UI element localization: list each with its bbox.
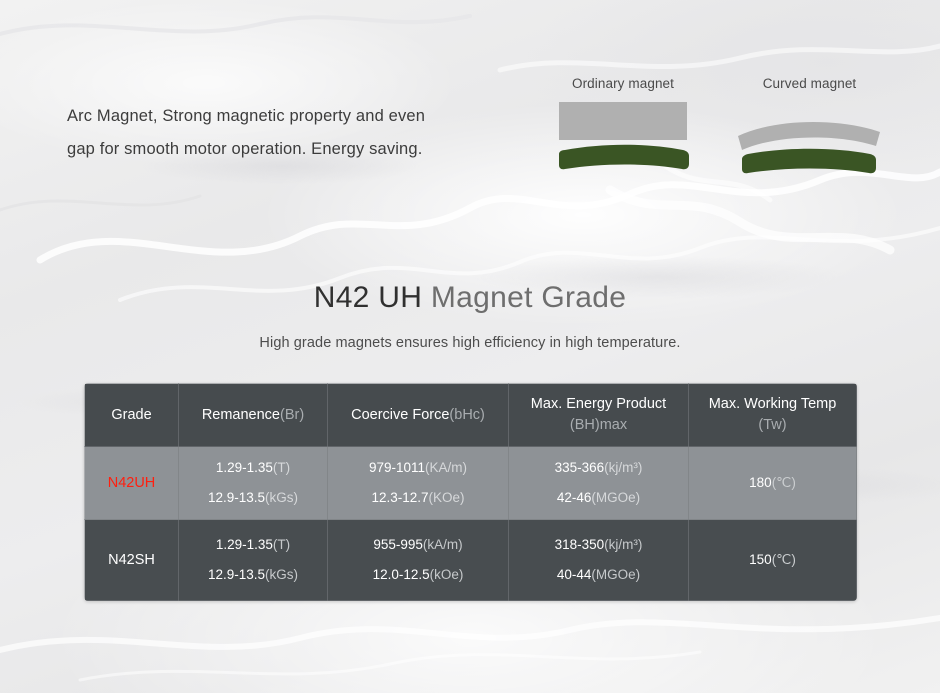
column-header-max-working-temp-sub: (Tw) — [691, 416, 854, 435]
column-header-coercive-force: Coercive Force(bHc) — [328, 384, 509, 447]
cell-grade: N42SH — [85, 520, 179, 601]
column-header-max-working-temp: Max. Working Temp (Tw) — [689, 384, 857, 447]
coercive-value-ka: 979-1011 — [369, 460, 425, 475]
curved-magnet-group: Curved magnet — [728, 76, 891, 180]
ordinary-magnet-group: Ordinary magnet — [543, 76, 703, 180]
table-body: N42UH 1.29-1.35(T) 12.9-13.5(kGs) 979-10… — [85, 447, 857, 601]
column-header-max-working-temp-main: Max. Working Temp — [709, 396, 837, 412]
column-header-grade: Grade — [85, 384, 179, 447]
column-header-coercive-force-main: Coercive Force — [351, 407, 449, 423]
cell-remanence: 1.29-1.35(T) 12.9-13.5(kGs) — [179, 520, 328, 601]
intro-line-2: gap for smooth motor operation. Energy s… — [67, 133, 497, 166]
remanence-value-tesla: 1.29-1.35 — [216, 537, 273, 552]
coercive-value-koe: 12.0-12.5 — [373, 567, 430, 582]
energy-unit-mgoe: (MGOe) — [591, 490, 640, 505]
energy-unit-kjm3: (kj/m³) — [604, 537, 642, 552]
remanence-line-1: 1.29-1.35(T) — [179, 453, 327, 483]
cell-coercive-force: 979-1011(KA/m) 12.3-12.7(KOe) — [328, 447, 509, 520]
cell-max-working-temp: 180(℃) — [689, 447, 857, 520]
grade-label: N42UH — [85, 473, 178, 493]
coercive-line-2: 12.0-12.5(kOe) — [328, 560, 508, 590]
ordinary-magnet-illustration — [543, 102, 703, 180]
ordinary-magnet-rotor-arc — [559, 145, 689, 170]
remanence-unit-kgs: (kGs) — [265, 567, 298, 582]
column-header-max-energy-product-sub: (BH)max — [511, 416, 686, 435]
energy-line-1: 318-350(kj/m³) — [509, 530, 688, 560]
remanence-value-kgs: 12.9-13.5 — [208, 490, 265, 505]
page-title-rest: Magnet Grade — [422, 281, 626, 314]
column-header-remanence: Remanence(Br) — [179, 384, 328, 447]
magnet-comparison-figure: Ordinary magnet Curved magnet — [530, 76, 900, 184]
energy-unit-kjm3: (kj/m³) — [604, 460, 642, 475]
page-title-grade: N42 UH — [314, 281, 423, 314]
magnet-grade-spec-table: Grade Remanence(Br) Coercive Force(bHc) … — [84, 383, 857, 601]
intro-line-1: Arc Magnet, Strong magnetic property and… — [67, 100, 497, 133]
cell-max-energy-product: 318-350(kj/m³) 40-44(MGOe) — [509, 520, 689, 601]
background-vein-lower — [0, 600, 940, 693]
energy-line-1: 335-366(kj/m³) — [509, 453, 688, 483]
remanence-value-tesla: 1.29-1.35 — [216, 460, 273, 475]
intro-description: Arc Magnet, Strong magnetic property and… — [67, 100, 497, 166]
temp-line: 150(℃) — [689, 550, 856, 570]
coercive-line-2: 12.3-12.7(KOe) — [328, 483, 508, 513]
table-header: Grade Remanence(Br) Coercive Force(bHc) … — [85, 384, 857, 447]
coercive-line-1: 955-995(kA/m) — [328, 530, 508, 560]
curved-magnet-rotor-arc — [742, 149, 876, 174]
table-row: N42SH 1.29-1.35(T) 12.9-13.5(kGs) 955-99… — [85, 520, 857, 601]
curved-magnet-caption: Curved magnet — [728, 76, 891, 91]
cell-max-working-temp: 150(℃) — [689, 520, 857, 601]
remanence-line-2: 12.9-13.5(kGs) — [179, 483, 327, 513]
column-header-remanence-unit: (Br) — [280, 407, 304, 423]
coercive-value-ka: 955-995 — [373, 537, 423, 552]
remanence-line-2: 12.9-13.5(kGs) — [179, 560, 327, 590]
cell-remanence: 1.29-1.35(T) 12.9-13.5(kGs) — [179, 447, 328, 520]
remanence-unit-kgs: (kGs) — [265, 490, 298, 505]
remanence-unit-tesla: (T) — [273, 537, 290, 552]
energy-value-mgoe: 40-44 — [557, 567, 592, 582]
energy-line-2: 42-46(MGOe) — [509, 483, 688, 513]
remanence-value-kgs: 12.9-13.5 — [208, 567, 265, 582]
coercive-value-koe: 12.3-12.7 — [371, 490, 428, 505]
coercive-unit-koe: (kOe) — [430, 567, 464, 582]
curved-magnet-illustration — [728, 102, 891, 180]
column-header-remanence-main: Remanence — [202, 407, 280, 423]
column-header-max-energy-product: Max. Energy Product (BH)max — [509, 384, 689, 447]
title-block: N42 UH Magnet Grade High grade magnets e… — [0, 278, 940, 351]
energy-value-mgoe: 42-46 — [557, 490, 592, 505]
ordinary-magnet-block — [559, 102, 687, 140]
column-header-coercive-force-unit: (bHc) — [449, 407, 484, 423]
page-title: N42 UH Magnet Grade — [0, 278, 940, 318]
cell-coercive-force: 955-995(kA/m) 12.0-12.5(kOe) — [328, 520, 509, 601]
cell-grade: N42UH — [85, 447, 179, 520]
coercive-unit-ka: (kA/m) — [423, 537, 463, 552]
column-header-grade-main: Grade — [111, 407, 151, 423]
temp-value: 150 — [749, 552, 772, 567]
page-subtitle: High grade magnets ensures high efficien… — [0, 335, 940, 351]
product-detail-page: Arc Magnet, Strong magnetic property and… — [0, 0, 940, 693]
energy-value-kjm3: 318-350 — [555, 537, 605, 552]
temp-unit: (℃) — [772, 552, 796, 567]
temp-line: 180(℃) — [689, 473, 856, 493]
curved-magnet-block — [738, 122, 880, 150]
coercive-unit-ka: (KA/m) — [425, 460, 467, 475]
energy-value-kjm3: 335-366 — [555, 460, 605, 475]
table-row: N42UH 1.29-1.35(T) 12.9-13.5(kGs) 979-10… — [85, 447, 857, 520]
table-header-row: Grade Remanence(Br) Coercive Force(bHc) … — [85, 384, 857, 447]
energy-line-2: 40-44(MGOe) — [509, 560, 688, 590]
coercive-line-1: 979-1011(KA/m) — [328, 453, 508, 483]
temp-value: 180 — [749, 475, 772, 490]
remanence-unit-tesla: (T) — [273, 460, 290, 475]
temp-unit: (℃) — [772, 475, 796, 490]
remanence-line-1: 1.29-1.35(T) — [179, 530, 327, 560]
energy-unit-mgoe: (MGOe) — [591, 567, 640, 582]
column-header-max-energy-product-main: Max. Energy Product — [531, 396, 666, 412]
ordinary-magnet-caption: Ordinary magnet — [543, 76, 703, 91]
grade-label: N42SH — [85, 550, 178, 570]
cell-max-energy-product: 335-366(kj/m³) 42-46(MGOe) — [509, 447, 689, 520]
coercive-unit-koe: (KOe) — [429, 490, 465, 505]
